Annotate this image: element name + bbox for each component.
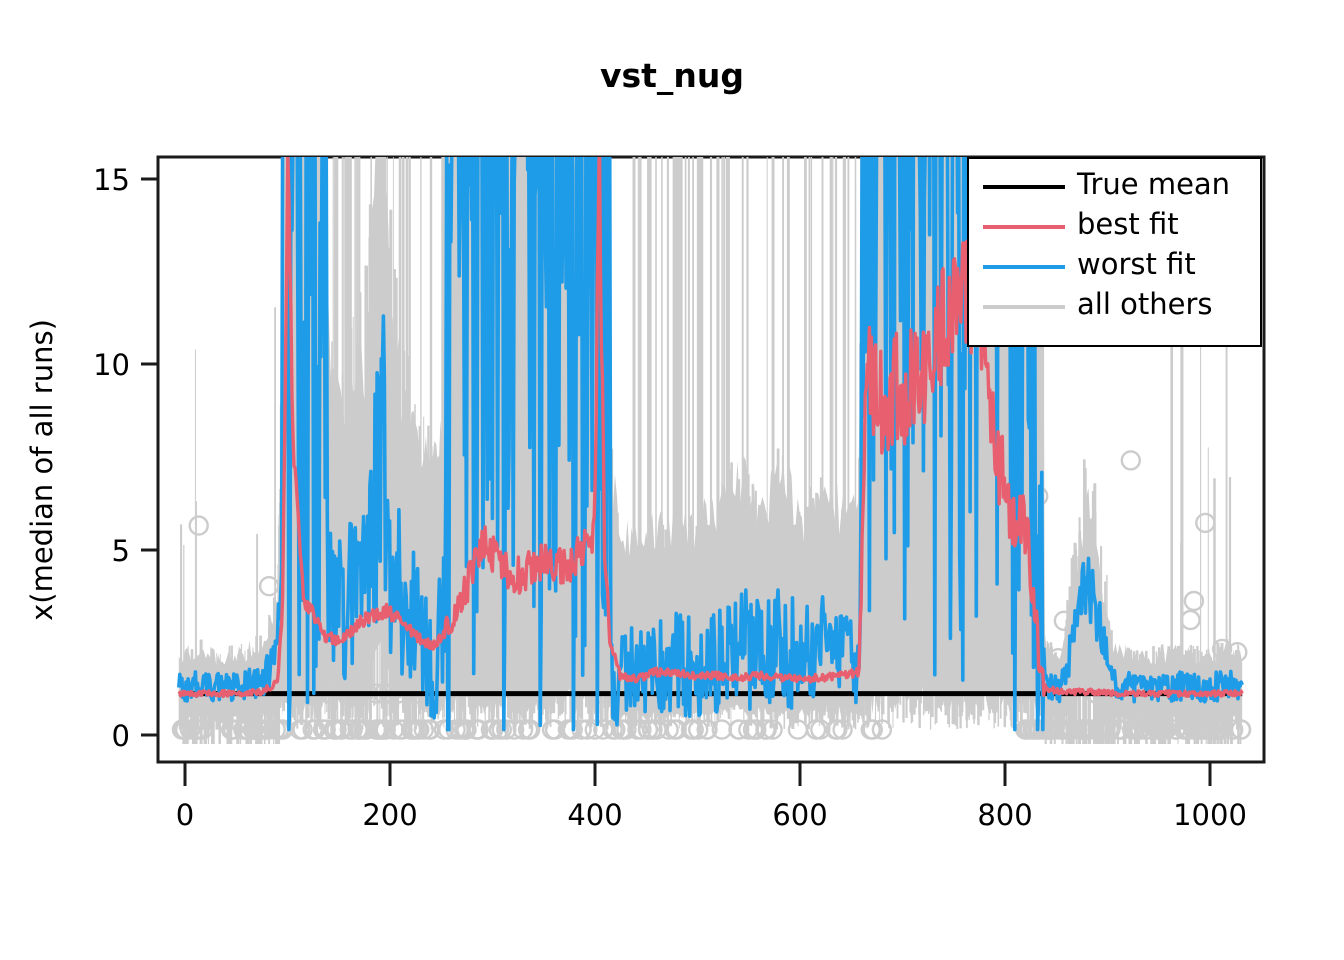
legend-label-true-mean: True mean (1077, 167, 1230, 201)
legend-label-best-fit: best fit (1077, 207, 1179, 241)
legend-label-all-others: all others (1077, 287, 1212, 321)
legend-item-best-fit: best fit (969, 207, 1264, 247)
y-axis-ticks (141, 179, 158, 735)
chart-legend: True mean best fit worst fit all others (967, 157, 1262, 347)
legend-swatch-best-fit (983, 225, 1065, 229)
plot-canvas (0, 0, 1344, 960)
x-axis-ticks (185, 762, 1210, 786)
chart-figure: vst_nug x(median of all runs) 15 10 5 0 … (0, 0, 1344, 960)
legend-swatch-worst-fit (983, 265, 1065, 269)
legend-swatch-true-mean (983, 185, 1065, 189)
legend-item-all-others: all others (969, 287, 1264, 327)
legend-item-true-mean: True mean (969, 167, 1264, 207)
legend-item-worst-fit: worst fit (969, 247, 1264, 287)
legend-swatch-all-others (983, 305, 1065, 309)
legend-label-worst-fit: worst fit (1077, 247, 1196, 281)
